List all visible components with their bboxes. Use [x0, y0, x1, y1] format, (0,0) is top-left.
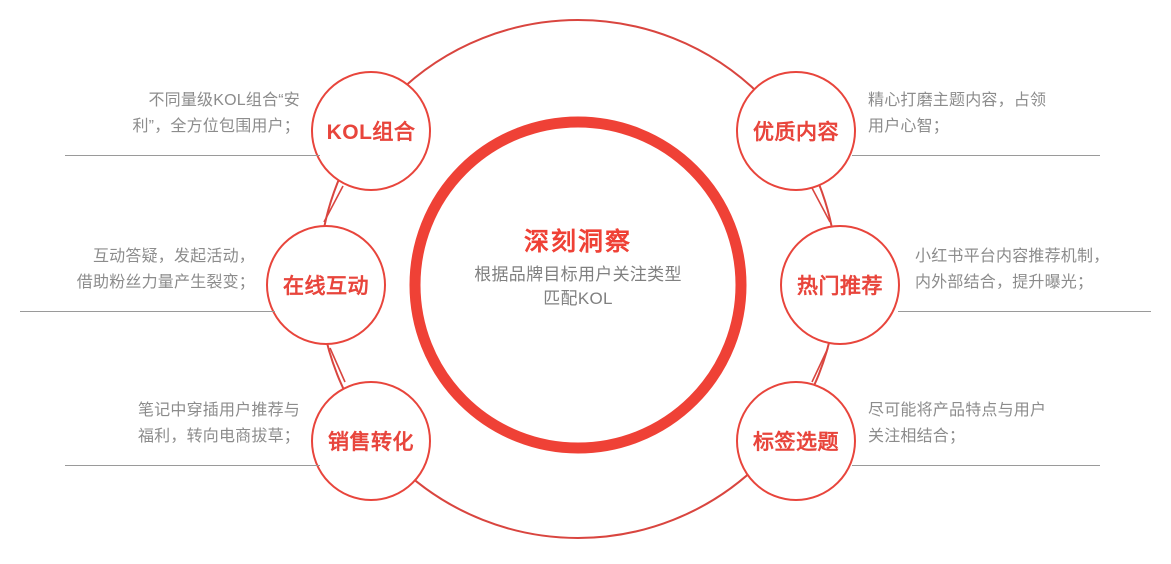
center-subtitle-line-1: 根据品牌目标用户关注类型 — [398, 263, 758, 288]
divider-hot-recommendation — [898, 311, 1151, 312]
description-line-1: 互动答疑，发起活动， — [20, 244, 255, 270]
description-line-1: 尽可能将产品特点与用户 — [868, 398, 1118, 424]
divider-kol-combination — [65, 155, 320, 156]
description-line-2: 关注相结合； — [868, 424, 1118, 450]
description-line-1: 笔记中穿插用户推荐与 — [60, 398, 300, 424]
description-line-2: 福利，转向电商拔草； — [60, 424, 300, 450]
node-label-quality-content[interactable]: 优质内容 — [716, 122, 876, 143]
description-quality-content: 精心打磨主题内容，占领 用户心智； — [868, 88, 1118, 140]
description-sales-conversion: 笔记中穿插用户推荐与 福利，转向电商拔草； — [60, 398, 300, 450]
description-line-2: 内外部结合，提升曝光； — [915, 270, 1165, 296]
description-line-2: 用户心智； — [868, 114, 1118, 140]
description-line-2: 利”，全方位包围用户； — [60, 114, 300, 140]
center-title: 深刻洞察 — [398, 228, 758, 257]
description-online-interaction: 互动答疑，发起活动， 借助粉丝力量产生裂变； — [20, 244, 255, 296]
description-line-2: 借助粉丝力量产生裂变； — [20, 270, 255, 296]
divider-tag-topic — [852, 465, 1100, 466]
description-line-1: 精心打磨主题内容，占领 — [868, 88, 1118, 114]
description-line-1: 不同量级KOL组合“安 — [60, 88, 300, 114]
node-label-hot-recommendation[interactable]: 热门推荐 — [760, 276, 920, 297]
node-label-online-interaction[interactable]: 在线互动 — [246, 276, 406, 297]
diagram-canvas: KOL组合 在线互动 销售转化 优质内容 热门推荐 标签选题 深刻洞察 根据品牌… — [0, 0, 1171, 564]
node-label-tag-topic[interactable]: 标签选题 — [716, 432, 876, 453]
description-tag-topic: 尽可能将产品特点与用户 关注相结合； — [868, 398, 1118, 450]
divider-sales-conversion — [65, 465, 320, 466]
center-subtitle: 根据品牌目标用户关注类型 匹配KOL — [398, 263, 758, 312]
description-hot-recommendation: 小红书平台内容推荐机制， 内外部结合，提升曝光； — [915, 244, 1165, 296]
divider-online-interaction — [20, 311, 275, 312]
description-kol-combination: 不同量级KOL组合“安 利”，全方位包围用户； — [60, 88, 300, 140]
center-content: 深刻洞察 根据品牌目标用户关注类型 匹配KOL — [398, 228, 758, 312]
node-label-sales-conversion[interactable]: 销售转化 — [291, 432, 451, 453]
node-label-kol-combination[interactable]: KOL组合 — [291, 122, 451, 143]
divider-quality-content — [852, 155, 1100, 156]
description-line-1: 小红书平台内容推荐机制， — [915, 244, 1165, 270]
center-subtitle-line-2: 匹配KOL — [398, 287, 758, 312]
